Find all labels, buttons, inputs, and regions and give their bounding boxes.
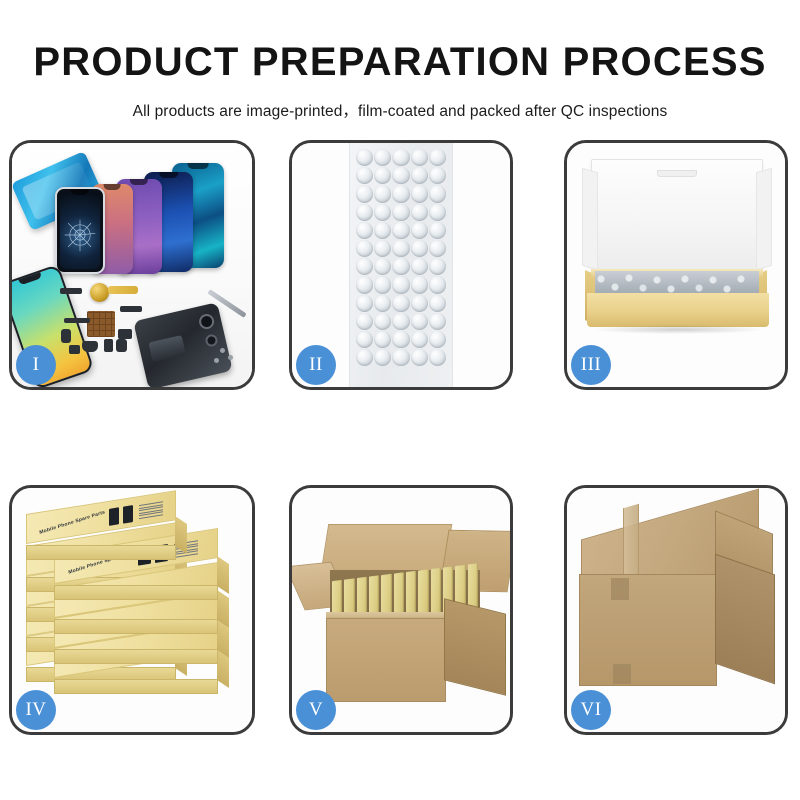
step-panel-box-stack[interactable]: Mobile Phone Spare Parts — [9, 485, 255, 735]
component-part — [60, 288, 82, 294]
component-part — [69, 345, 80, 354]
box-front-face — [54, 679, 218, 694]
box-side-face — [217, 556, 229, 594]
component-part — [116, 339, 127, 352]
screw-icon — [228, 355, 233, 360]
component-part — [118, 329, 132, 339]
flex-cable-icon — [108, 286, 138, 294]
carton-front-face — [326, 618, 446, 702]
box-label-thumbnail — [109, 507, 119, 526]
step-panel-carton-sealed[interactable]: VI — [564, 485, 788, 735]
camera-lens-icon — [198, 313, 216, 331]
step-panel-inner-box[interactable]: III — [564, 140, 788, 390]
carton-front-face — [579, 574, 717, 686]
process-row-bottom: Mobile Phone Spare Parts — [0, 485, 800, 735]
box-front-face — [54, 649, 218, 664]
carton-side-face — [444, 598, 506, 695]
component-part — [120, 306, 142, 312]
box-lid-open — [591, 159, 763, 279]
process-steps-grid: I — [0, 140, 800, 735]
component-part — [61, 329, 71, 343]
step-panel-bubble-wrap[interactable]: II — [289, 140, 513, 390]
screw-icon — [214, 358, 219, 363]
step-badge-6: VI — [571, 690, 611, 730]
notch-icon — [130, 179, 148, 185]
retail-box-labelled: Mobile Phone Spare Parts — [54, 554, 218, 600]
component-part — [104, 339, 113, 352]
box-front-face — [26, 545, 176, 560]
box-front-panel — [587, 293, 769, 327]
phone-screen-1-glass — [55, 187, 105, 274]
circuit-chip-icon — [87, 311, 115, 337]
screw-icon — [220, 348, 225, 353]
step-badge-4: IV — [16, 690, 56, 730]
box-top-face: Mobile Phone Spare Parts — [26, 490, 176, 544]
step-panel-carton-open[interactable]: V — [289, 485, 513, 735]
notch-icon — [104, 184, 121, 190]
component-part — [64, 318, 90, 323]
step-badge-1: I — [16, 345, 56, 385]
page-subtitle: All products are image-printed，film-coat… — [0, 99, 800, 121]
cracked-glass-icon — [63, 218, 97, 252]
page-header: PRODUCT PREPARATION PROCESS All products… — [0, 0, 800, 121]
bubble-wrap-pouch — [349, 143, 453, 387]
carton-handle-notch — [611, 578, 629, 600]
product-preparation-page: PRODUCT PREPARATION PROCESS All products… — [0, 0, 800, 800]
box-front-face — [54, 619, 218, 634]
phone-back-housing-icon — [133, 302, 233, 387]
battery-strip — [148, 335, 186, 362]
step-panel-phone-parts[interactable]: I — [9, 140, 255, 390]
phone-screen-fan — [34, 161, 249, 286]
retail-box-labelled: Mobile Phone Spare Parts — [26, 514, 176, 560]
process-row-top: I — [0, 140, 800, 390]
notch-icon — [18, 272, 42, 285]
bubble-grid — [356, 149, 446, 387]
box-front-face — [54, 585, 218, 600]
carton-handle-notch — [613, 664, 631, 684]
notch-icon — [71, 189, 89, 195]
step-badge-5: V — [296, 690, 336, 730]
lid-tab — [657, 170, 697, 177]
camera-lens-icon — [204, 333, 218, 347]
box-label: Mobile Phone Spare Parts — [39, 497, 163, 539]
step-badge-3: III — [571, 345, 611, 385]
box-label-brand: Mobile Phone Spare Parts — [39, 509, 106, 536]
speaker-module-icon — [90, 283, 109, 302]
step-badge-2: II — [296, 345, 336, 385]
box-label-spec-lines — [139, 501, 163, 519]
component-part — [82, 341, 98, 352]
box-label-thumbnail — [123, 505, 133, 524]
carton-side-face — [715, 554, 775, 685]
notch-icon — [159, 172, 179, 178]
page-title: PRODUCT PREPARATION PROCESS — [0, 42, 800, 82]
notch-icon — [188, 163, 209, 169]
drop-shadow — [593, 325, 763, 334]
